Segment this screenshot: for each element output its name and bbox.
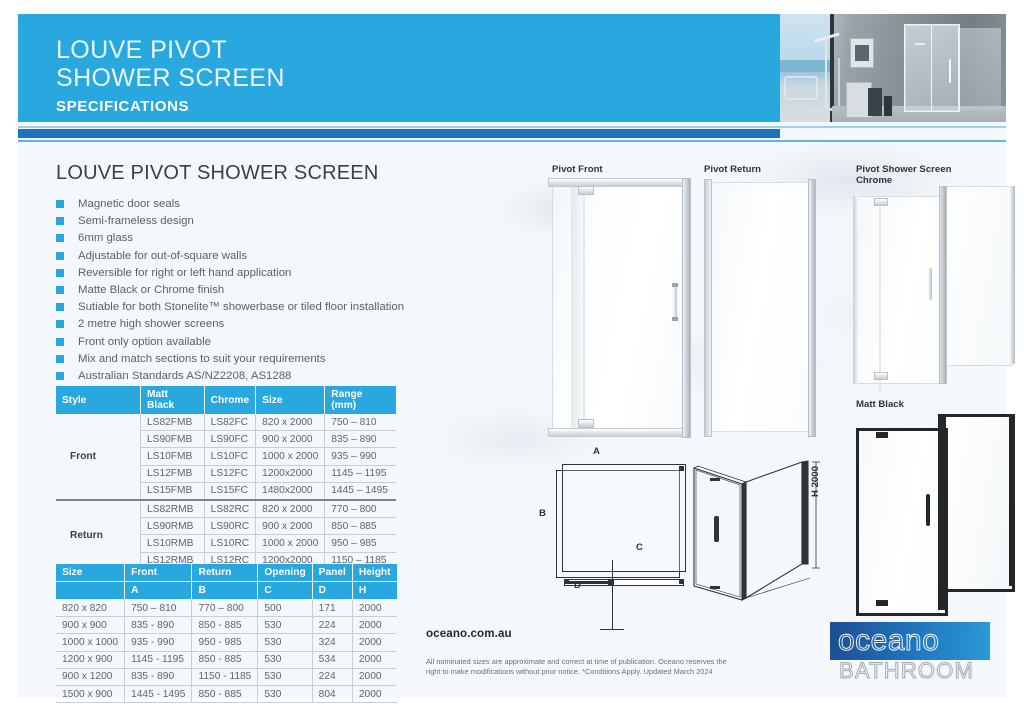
model-codes-table: StyleMatt BlackChromeSizeRange (mm) Fron… xyxy=(56,386,396,570)
table-cell: 935 – 990 xyxy=(325,448,396,465)
section-title: LOUVE PIVOT SHOWER SCREEN xyxy=(56,162,378,185)
feature-label: Sutiable for both Stonelite™ showerbase … xyxy=(78,301,404,313)
table-cell: LS12FMB xyxy=(141,465,205,482)
feature-label: Matte Black or Chrome finish xyxy=(78,284,224,296)
feature-item: Adjustable for out-of-square walls xyxy=(56,250,456,263)
table-cell: LS90RC xyxy=(204,518,256,535)
feature-label: Mix and match sections to suit your requ… xyxy=(78,353,326,365)
page-title: LOUVE PIVOT SHOWER SCREEN xyxy=(56,36,285,92)
table-cell: 2000 xyxy=(352,651,396,668)
column-letter xyxy=(56,582,125,600)
table-row: 1200 x 9001145 - 1195850 - 8855305342000 xyxy=(56,651,397,668)
table-cell: LS82FC xyxy=(204,414,256,431)
table-row: 900 x 1200835 - 8901150 - 11855302242000 xyxy=(56,668,397,685)
table-cell: 1150 - 1185 xyxy=(192,668,258,685)
table-cell: 950 - 985 xyxy=(192,634,258,651)
table-cell: 935 - 990 xyxy=(125,634,192,651)
table-cell: 1445 - 1495 xyxy=(125,685,192,702)
feature-label: Reversible for right or left hand applic… xyxy=(78,267,291,279)
table-cell: 835 - 890 xyxy=(125,668,192,685)
table-cell: LS10FMB xyxy=(141,448,205,465)
isometric-drawing xyxy=(686,454,826,604)
dimension-a-label: A xyxy=(593,446,600,457)
title-line-2: SHOWER SCREEN xyxy=(56,64,285,92)
size-chart-table: SizeFrontReturnOpeningPanelHeight ABCDH … xyxy=(56,564,397,703)
label-chrome-unit: Pivot Shower Screen Chrome xyxy=(856,164,951,186)
column-header: Return xyxy=(192,564,258,582)
column-header: Range (mm) xyxy=(325,386,396,414)
table-cell: 1445 – 1495 xyxy=(325,482,396,500)
bullet-square-icon xyxy=(56,338,64,346)
table-cell: 224 xyxy=(312,617,352,634)
table-row: FrontLS82FMBLS82FC820 x 2000750 – 810 xyxy=(56,414,396,431)
table-cell: 1200x2000 xyxy=(256,465,325,482)
feature-list: Magnetic door sealsSemi-frameless design… xyxy=(56,198,456,387)
table-cell: 750 – 810 xyxy=(125,600,192,617)
page-header: LOUVE PIVOT SHOWER SCREEN SPECIFICATIONS xyxy=(18,14,1006,122)
table-cell: LS82RC xyxy=(204,500,256,518)
table-cell: 1000 x 1000 xyxy=(56,634,125,651)
label-pivot-return: Pivot Return xyxy=(704,164,761,175)
table-cell: 850 - 885 xyxy=(192,685,258,702)
dimension-d-label: D xyxy=(574,580,581,591)
table-cell: 804 xyxy=(312,685,352,702)
table-cell: 324 xyxy=(312,634,352,651)
table-cell: 1500 x 900 xyxy=(56,685,125,702)
table-cell: LS10FC xyxy=(204,448,256,465)
row-group-label: Front xyxy=(56,414,141,500)
table-cell: 2000 xyxy=(352,617,396,634)
disclaimer-text: All nominated sizes are approximate and … xyxy=(426,657,736,678)
column-header: Size xyxy=(56,564,125,582)
table-cell: 820 x 2000 xyxy=(256,500,325,518)
table-cell: 820 x 2000 xyxy=(256,414,325,431)
column-letter: D xyxy=(312,582,352,600)
table-row: 1000 x 1000935 - 990950 - 9855303242000 xyxy=(56,634,397,651)
column-header: Opening xyxy=(258,564,312,582)
table-cell: 850 - 885 xyxy=(192,651,258,668)
table-cell: LS12FC xyxy=(204,465,256,482)
table-cell: 530 xyxy=(258,617,312,634)
label-pivot-front: Pivot Front xyxy=(552,164,603,175)
pivot-front-image xyxy=(552,182,686,432)
table-cell: 820 x 820 xyxy=(56,600,125,617)
chrome-corner-unit-image xyxy=(856,186,1012,382)
table-cell: 530 xyxy=(258,685,312,702)
column-header: Panel xyxy=(312,564,352,582)
table-cell: LS82RMB xyxy=(141,500,205,518)
column-header: Front xyxy=(125,564,192,582)
table-cell: 1000 x 2000 xyxy=(256,535,325,552)
bullet-square-icon xyxy=(56,200,64,208)
feature-label: Semi-frameless design xyxy=(78,215,194,227)
table-cell: 530 xyxy=(258,634,312,651)
column-letter: H xyxy=(352,582,396,600)
table-cell: LS90FC xyxy=(204,431,256,448)
header-bathroom-photo xyxy=(780,14,1006,122)
bullet-square-icon xyxy=(56,286,64,294)
table-cell: 900 x 900 xyxy=(56,617,125,634)
table-cell: 2000 xyxy=(352,634,396,651)
feature-item: 6mm glass xyxy=(56,232,456,245)
table-header-row: SizeFrontReturnOpeningPanelHeight xyxy=(56,564,397,582)
table-cell: LS10RMB xyxy=(141,535,205,552)
table-cell: 1145 – 1195 xyxy=(325,465,396,482)
table-letter-row: ABCDH xyxy=(56,582,397,600)
feature-label: 6mm glass xyxy=(78,232,133,244)
table-cell: 2000 xyxy=(352,668,396,685)
table-cell: 835 - 890 xyxy=(125,617,192,634)
table-cell: 1480x2000 xyxy=(256,482,325,500)
feature-label: Australian Standards AS/NZ2208, AS1288 xyxy=(78,370,291,382)
table-cell: 750 – 810 xyxy=(325,414,396,431)
feature-label: Magnetic door seals xyxy=(78,198,180,210)
table-cell: 1200 x 900 xyxy=(56,651,125,668)
bullet-square-icon xyxy=(56,320,64,328)
table-cell: LS15FMB xyxy=(141,482,205,500)
dimension-c-label: C xyxy=(636,542,643,553)
feature-item: Sutiable for both Stonelite™ showerbase … xyxy=(56,301,456,314)
table-cell: 1000 x 2000 xyxy=(256,448,325,465)
oceano-logo: oceano BATHROOM xyxy=(830,622,990,690)
table-row: 1500 x 9001445 - 1495850 - 8855308042000 xyxy=(56,685,397,702)
label-matt-black: Matt Black xyxy=(856,399,904,410)
header-subtitle: SPECIFICATIONS xyxy=(56,98,189,115)
table-cell: 224 xyxy=(312,668,352,685)
feature-label: 2 metre high shower screens xyxy=(78,318,224,330)
table-cell: 2000 xyxy=(352,685,396,702)
label-chrome-line2: Chrome xyxy=(856,175,892,186)
feature-label: Adjustable for out-of-square walls xyxy=(78,250,247,262)
table-cell: LS90RMB xyxy=(141,518,205,535)
table-row: 900 x 900835 - 890850 - 8855302242000 xyxy=(56,617,397,634)
spec-sheet-page: LOUVE PIVOT SHOWER SCREEN SPECIFICATIONS… xyxy=(18,14,1006,698)
table-cell: 850 - 885 xyxy=(192,617,258,634)
table-cell: 2000 xyxy=(352,600,396,617)
table-cell: 1145 - 1195 xyxy=(125,651,192,668)
bullet-square-icon xyxy=(56,217,64,225)
table-cell: LS90FMB xyxy=(141,431,205,448)
table-cell: 850 – 885 xyxy=(325,518,396,535)
column-letter: C xyxy=(258,582,312,600)
logo-subtext: BATHROOM xyxy=(839,658,991,684)
bullet-square-icon xyxy=(56,303,64,311)
table-header-row: StyleMatt BlackChromeSizeRange (mm) xyxy=(56,386,396,414)
row-group-label: Return xyxy=(56,500,141,569)
table-cell: 900 x 2000 xyxy=(256,431,325,448)
bullet-square-icon xyxy=(56,355,64,363)
feature-item: Australian Standards AS/NZ2208, AS1288 xyxy=(56,370,456,383)
website-url[interactable]: oceano.com.au xyxy=(426,627,512,640)
column-header: Matt Black xyxy=(141,386,205,414)
bullet-square-icon xyxy=(56,252,64,260)
pivot-return-image xyxy=(708,182,812,432)
table-cell: LS82FMB xyxy=(141,414,205,431)
column-header: Height xyxy=(352,564,396,582)
feature-item: Reversible for right or left hand applic… xyxy=(56,267,456,280)
table-cell: 530 xyxy=(258,651,312,668)
logo-wordmark: oceano xyxy=(838,621,988,661)
table-cell: 770 – 800 xyxy=(325,500,396,518)
table-cell: 534 xyxy=(312,651,352,668)
header-blue-band: LOUVE PIVOT SHOWER SCREEN SPECIFICATIONS xyxy=(18,14,780,122)
column-header: Style xyxy=(56,386,141,414)
table-row: ReturnLS82RMBLS82RC820 x 2000770 – 800 xyxy=(56,500,396,518)
feature-item: Front only option available xyxy=(56,336,456,349)
header-rule-light xyxy=(18,126,1006,128)
column-header: Size xyxy=(256,386,325,414)
feature-item: 2 metre high shower screens xyxy=(56,318,456,331)
feature-item: Semi-frameless design xyxy=(56,215,456,228)
table-cell: LS10RC xyxy=(204,535,256,552)
label-chrome-line1: Pivot Shower Screen xyxy=(856,164,951,175)
feature-item: Matte Black or Chrome finish xyxy=(56,284,456,297)
table-cell: 171 xyxy=(312,600,352,617)
bullet-square-icon xyxy=(56,234,64,242)
column-header: Chrome xyxy=(204,386,256,414)
feature-item: Magnetic door seals xyxy=(56,198,456,211)
plan-view-drawing xyxy=(556,464,686,584)
table-cell: 500 xyxy=(258,600,312,617)
feature-label: Front only option available xyxy=(78,336,211,348)
table-cell: LS15FC xyxy=(204,482,256,500)
column-letter: B xyxy=(192,582,258,600)
table-cell: 770 – 800 xyxy=(192,600,258,617)
dimension-b-label: B xyxy=(539,508,546,519)
column-letter: A xyxy=(125,582,192,600)
table-cell: 530 xyxy=(258,668,312,685)
table-cell: 900 x 2000 xyxy=(256,518,325,535)
table-row: 820 x 820750 – 810770 – 8005001712000 xyxy=(56,600,397,617)
bullet-square-icon xyxy=(56,269,64,277)
table-cell: 900 x 1200 xyxy=(56,668,125,685)
matt-black-corner-unit-image xyxy=(856,414,1012,610)
table-cell: 835 – 890 xyxy=(325,431,396,448)
title-line-1: LOUVE PIVOT xyxy=(56,36,285,64)
table-cell: 950 – 985 xyxy=(325,535,396,552)
bullet-square-icon xyxy=(56,372,64,380)
feature-item: Mix and match sections to suit your requ… xyxy=(56,353,456,366)
header-rule-dark xyxy=(18,129,780,138)
